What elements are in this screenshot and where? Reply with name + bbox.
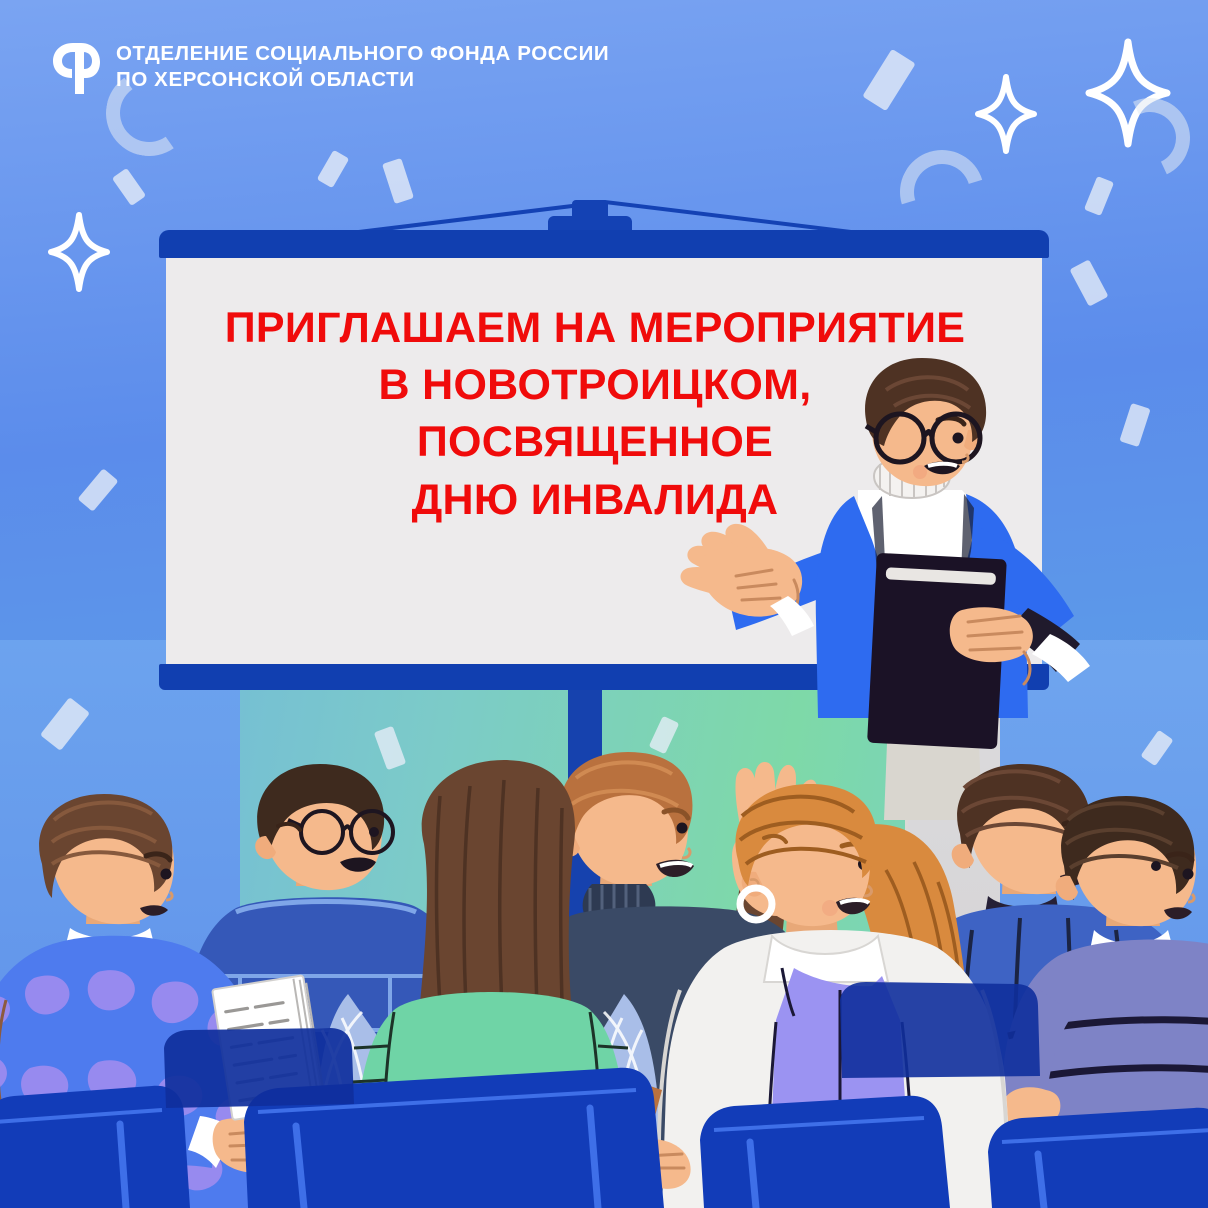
headline-line-1: ПРИГЛАШАЕМ НА МЕРОПРИЯТИЕ xyxy=(180,300,1010,357)
board-top-frame xyxy=(159,230,1049,258)
poster-canvas: ПРИГЛАШАЕМ НА МЕРОПРИЯТИЕ В НОВОТРОИЦКОМ… xyxy=(0,0,1208,1208)
pencil-in-hand xyxy=(620,1080,710,1190)
header: ОТДЕЛЕНИЕ СОЦИАЛЬНОГО ФОНДА РОССИИ ПО ХЕ… xyxy=(48,38,609,94)
handout-document xyxy=(204,975,340,1121)
presenter-figure xyxy=(676,380,1146,820)
sfr-monogram-logo-icon xyxy=(48,38,100,94)
audience-woman-ponytail xyxy=(676,790,1036,1208)
organization-name: ОТДЕЛЕНИЕ СОЦИАЛЬНОГО ФОНДА РОССИИ ПО ХЕ… xyxy=(116,38,609,93)
audience-woman-green-vest xyxy=(312,780,672,1208)
